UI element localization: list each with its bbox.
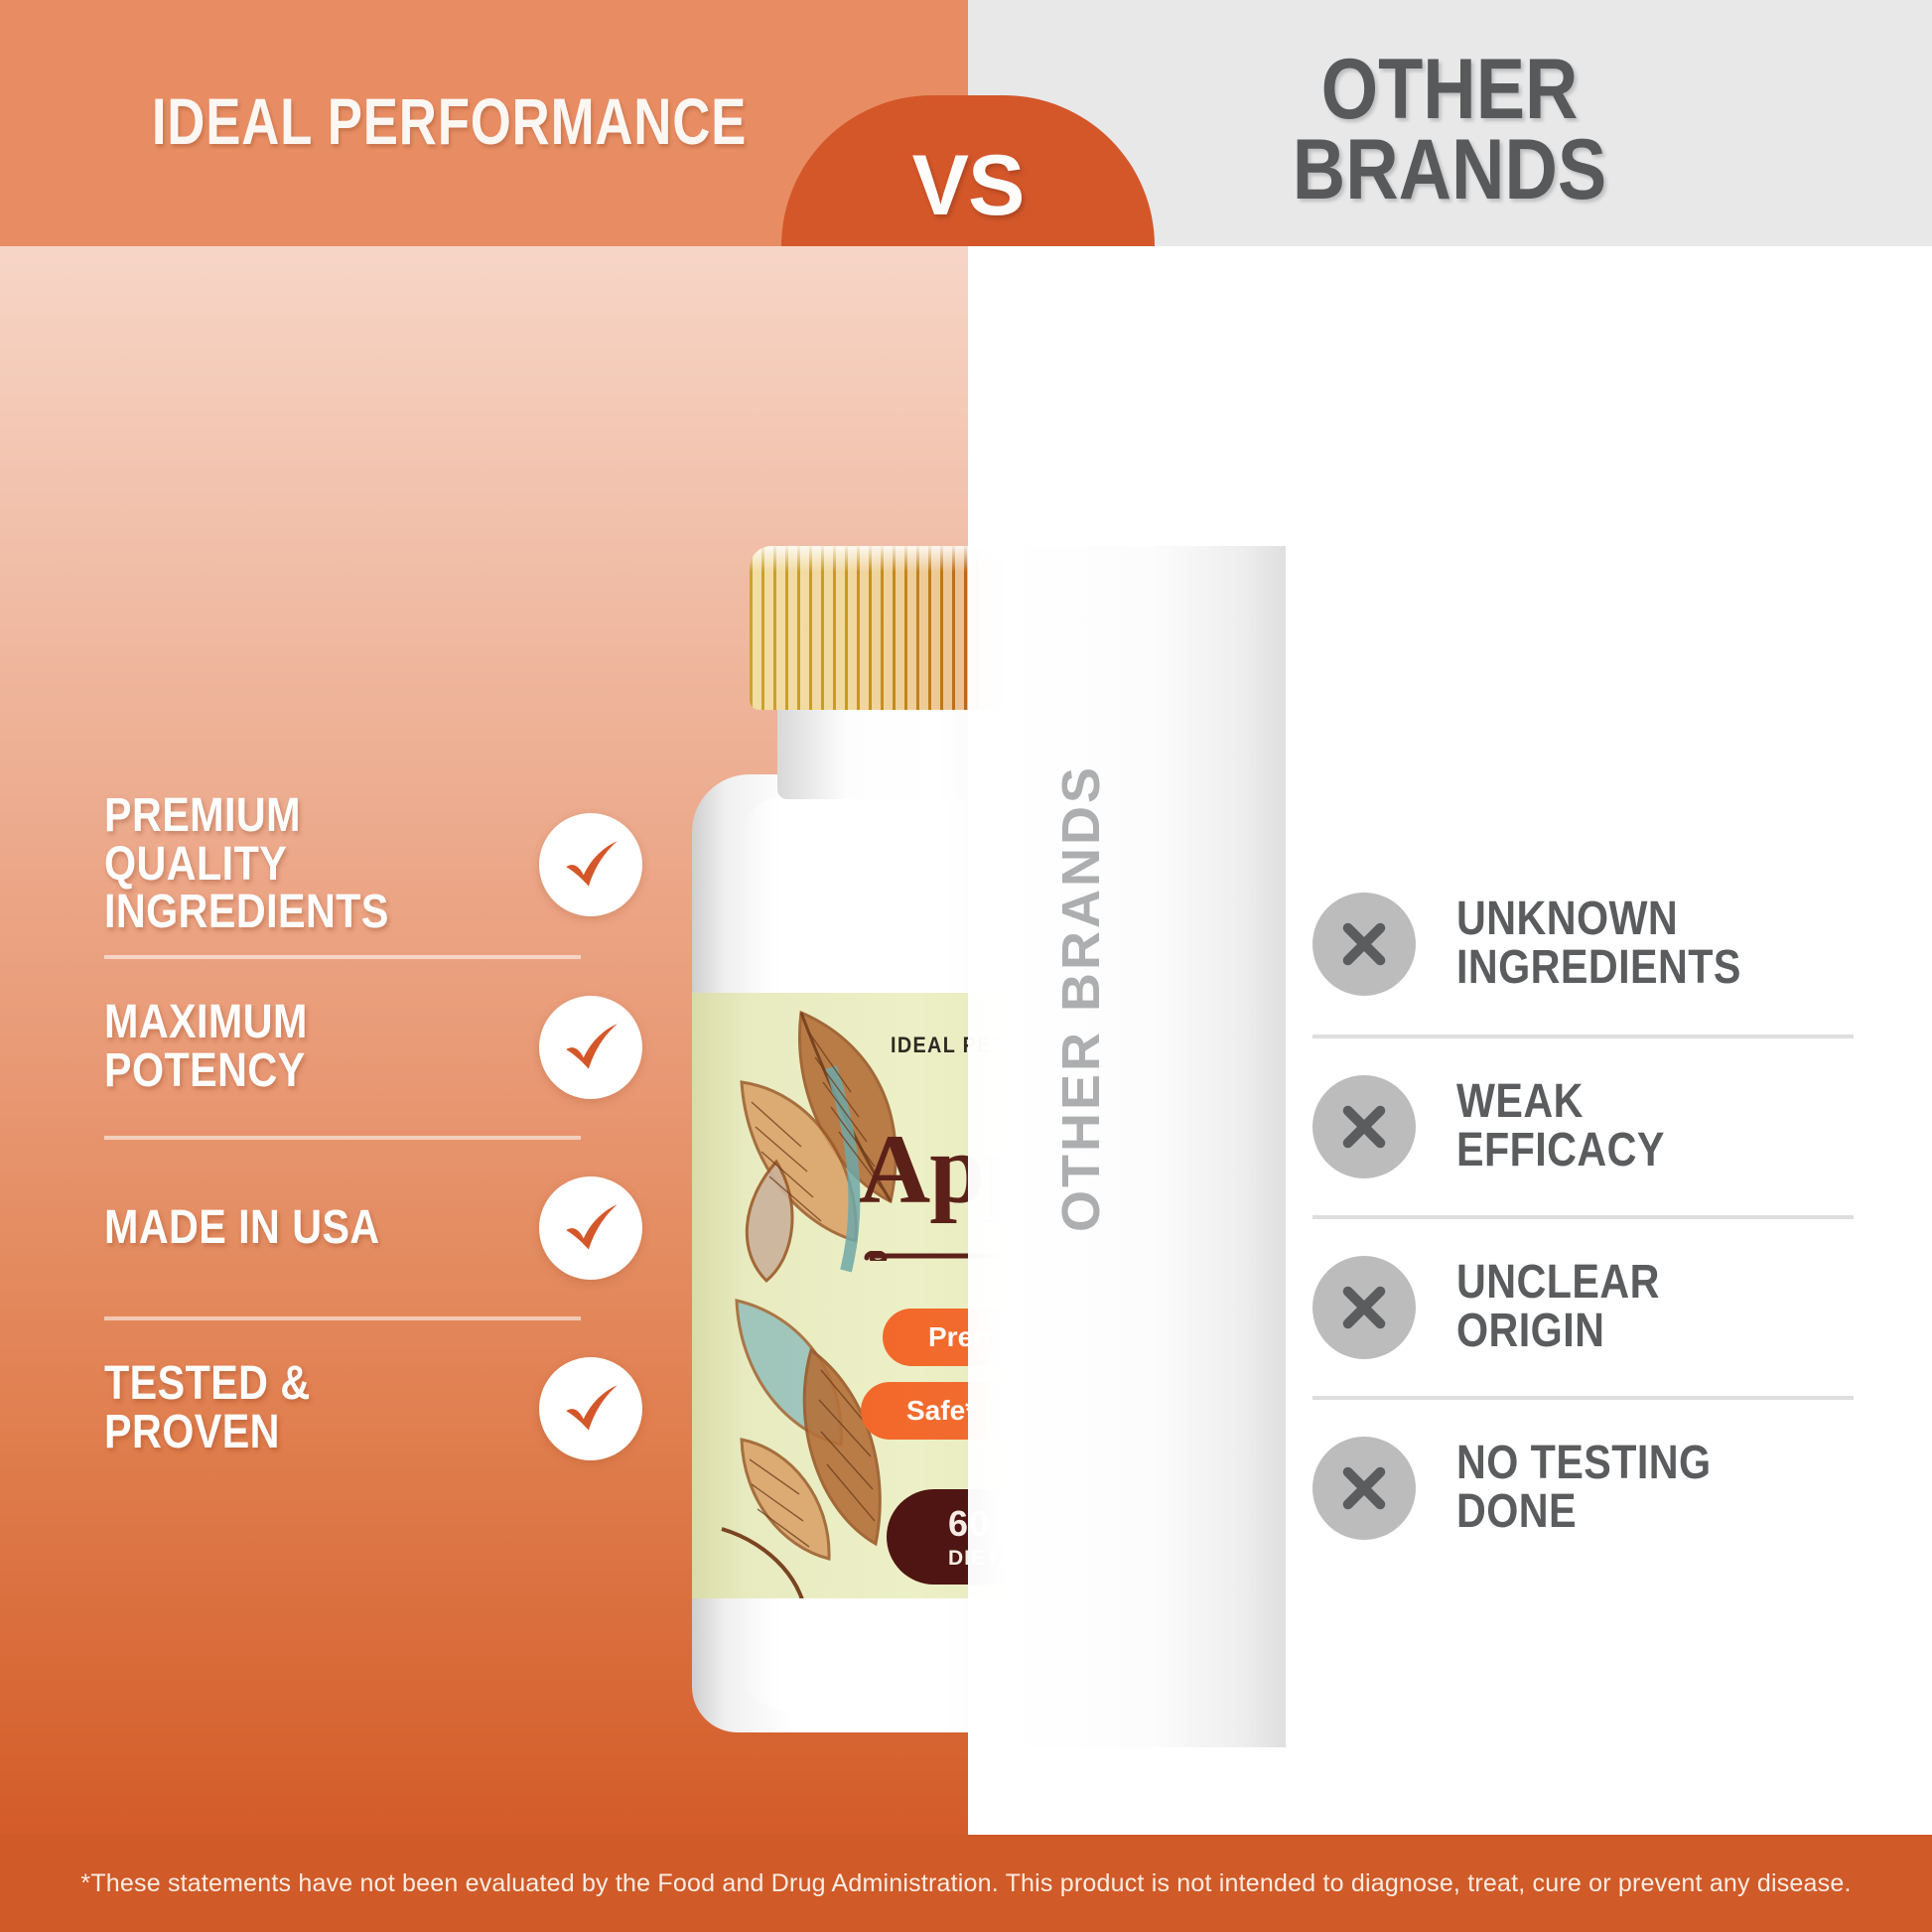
cons-item-line2: ORIGIN bbox=[1456, 1308, 1798, 1356]
list-item: MAXIMUM POTENCY bbox=[104, 955, 581, 1136]
pros-item-label: PREMIUM QUALITY INGREDIENTS bbox=[104, 792, 514, 938]
list-item: NO TESTING DONE bbox=[1312, 1396, 1854, 1577]
list-item: TESTED & PROVEN bbox=[104, 1316, 581, 1497]
generic-bottle-vertical-label: OTHER BRANDS bbox=[1050, 795, 1112, 1232]
check-icon bbox=[539, 1176, 642, 1280]
check-icon bbox=[539, 1357, 642, 1460]
pros-item-line1: MAXIMUM bbox=[104, 999, 514, 1047]
x-icon bbox=[1312, 1075, 1416, 1178]
cons-item-label: WEAK EFFICACY bbox=[1456, 1078, 1798, 1175]
cons-item-line1: UNKNOWN bbox=[1456, 896, 1798, 944]
pros-item-label: MADE IN USA bbox=[104, 1204, 514, 1253]
cons-item-line1: NO TESTING bbox=[1456, 1440, 1798, 1488]
check-icon bbox=[539, 996, 642, 1099]
pros-item-label: TESTED & PROVEN bbox=[104, 1360, 514, 1457]
pros-item-line2: POTENCY bbox=[104, 1047, 514, 1096]
cons-item-line2: EFFICACY bbox=[1456, 1127, 1798, 1175]
check-icon bbox=[539, 813, 642, 916]
cons-item-line1: UNCLEAR bbox=[1456, 1259, 1798, 1308]
cons-item-line2: DONE bbox=[1456, 1488, 1798, 1537]
cons-item-line1: WEAK bbox=[1456, 1078, 1798, 1127]
header-right-title-line2: BRANDS bbox=[1108, 130, 1791, 210]
pros-item-line1: TESTED & bbox=[104, 1360, 514, 1409]
pros-item-line1: MADE IN USA bbox=[104, 1204, 514, 1253]
generic-bottle-gloss bbox=[978, 794, 1047, 1549]
footer-disclaimer-text: *These statements have not been evaluate… bbox=[0, 1869, 1932, 1898]
cons-item-label: NO TESTING DONE bbox=[1456, 1440, 1798, 1537]
header-left-title: IDEAL PERFORMANCE bbox=[90, 83, 809, 159]
header-right-title-line1: OTHER bbox=[1108, 50, 1791, 130]
cons-item-label: UNKNOWN INGREDIENTS bbox=[1456, 896, 1798, 993]
list-item: WEAK EFFICACY bbox=[1312, 1035, 1854, 1215]
header-right-title: OTHER BRANDS bbox=[1108, 50, 1791, 210]
x-icon bbox=[1312, 893, 1416, 996]
cons-list: UNKNOWN INGREDIENTS WEAK EFFICACY UNCLEA… bbox=[1312, 854, 1854, 1577]
product-bottle: IDEAL PERF Appa Premium Ca Safe* | High … bbox=[650, 546, 1286, 1747]
x-icon bbox=[1312, 1256, 1416, 1359]
list-item: MADE IN USA bbox=[104, 1136, 581, 1316]
footer-disclaimer-bar: *These statements have not been evaluate… bbox=[0, 1835, 1932, 1932]
cons-item-label: UNCLEAR ORIGIN bbox=[1456, 1259, 1798, 1356]
pros-item-line2: QUALITY bbox=[104, 841, 514, 890]
list-item: PREMIUM QUALITY INGREDIENTS bbox=[104, 774, 581, 955]
pros-item-line2: PROVEN bbox=[104, 1409, 514, 1457]
pros-item-line3: INGREDIENTS bbox=[104, 889, 514, 937]
pros-item-line1: PREMIUM bbox=[104, 792, 514, 841]
comparison-infographic: IDEAL PERFORMANCE OTHER BRANDS VS bbox=[0, 0, 1932, 1932]
generic-bottle-overlay: OTHER BRANDS bbox=[968, 546, 1286, 1747]
list-item: UNCLEAR ORIGIN bbox=[1312, 1215, 1854, 1396]
pros-item-label: MAXIMUM POTENCY bbox=[104, 999, 514, 1096]
vs-badge-label: VS bbox=[912, 143, 1025, 246]
x-icon bbox=[1312, 1437, 1416, 1540]
list-item: UNKNOWN INGREDIENTS bbox=[1312, 854, 1854, 1035]
cons-item-line2: INGREDIENTS bbox=[1456, 944, 1798, 993]
pros-list: PREMIUM QUALITY INGREDIENTS MAXIMUM POTE… bbox=[104, 774, 581, 1497]
